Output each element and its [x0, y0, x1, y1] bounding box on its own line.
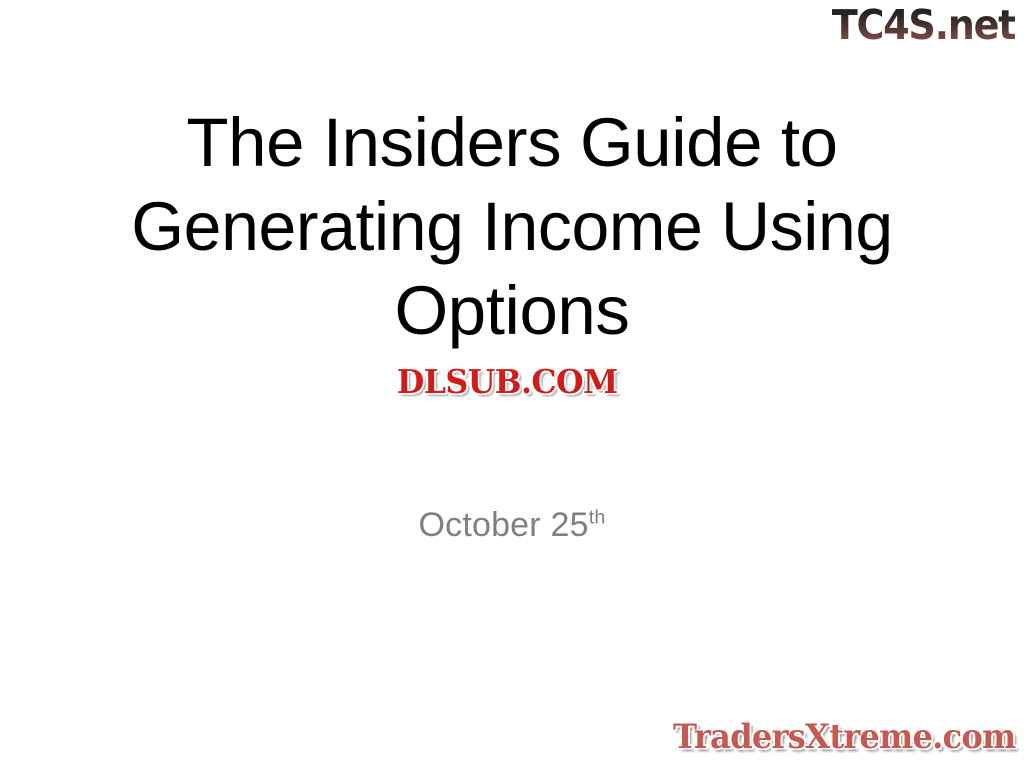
title-line-1: The Insiders Guide to: [40, 101, 984, 185]
title-line-3: Options: [40, 269, 984, 353]
dlsub-com-watermark-text: DLSUB.COM: [397, 362, 618, 401]
presentation-slide: TC4S.net The Insiders Guide to Generatin…: [0, 0, 1024, 768]
subtitle-date: October 25th: [40, 503, 984, 547]
dlsub-com-watermark: DLSUB.COM: [368, 362, 646, 402]
title-line-2: Generating Income Using: [47, 185, 977, 269]
page-title: The Insiders Guide to Generating Income …: [40, 101, 984, 353]
subtitle-date-text: October 25: [418, 506, 588, 544]
subtitle-date-ordinal-suffix: th: [589, 507, 606, 529]
tc4s-net-logo: TC4S.net: [832, 2, 1015, 48]
tradersxtreme-com-logo: TradersXtreme.com: [673, 714, 1015, 760]
